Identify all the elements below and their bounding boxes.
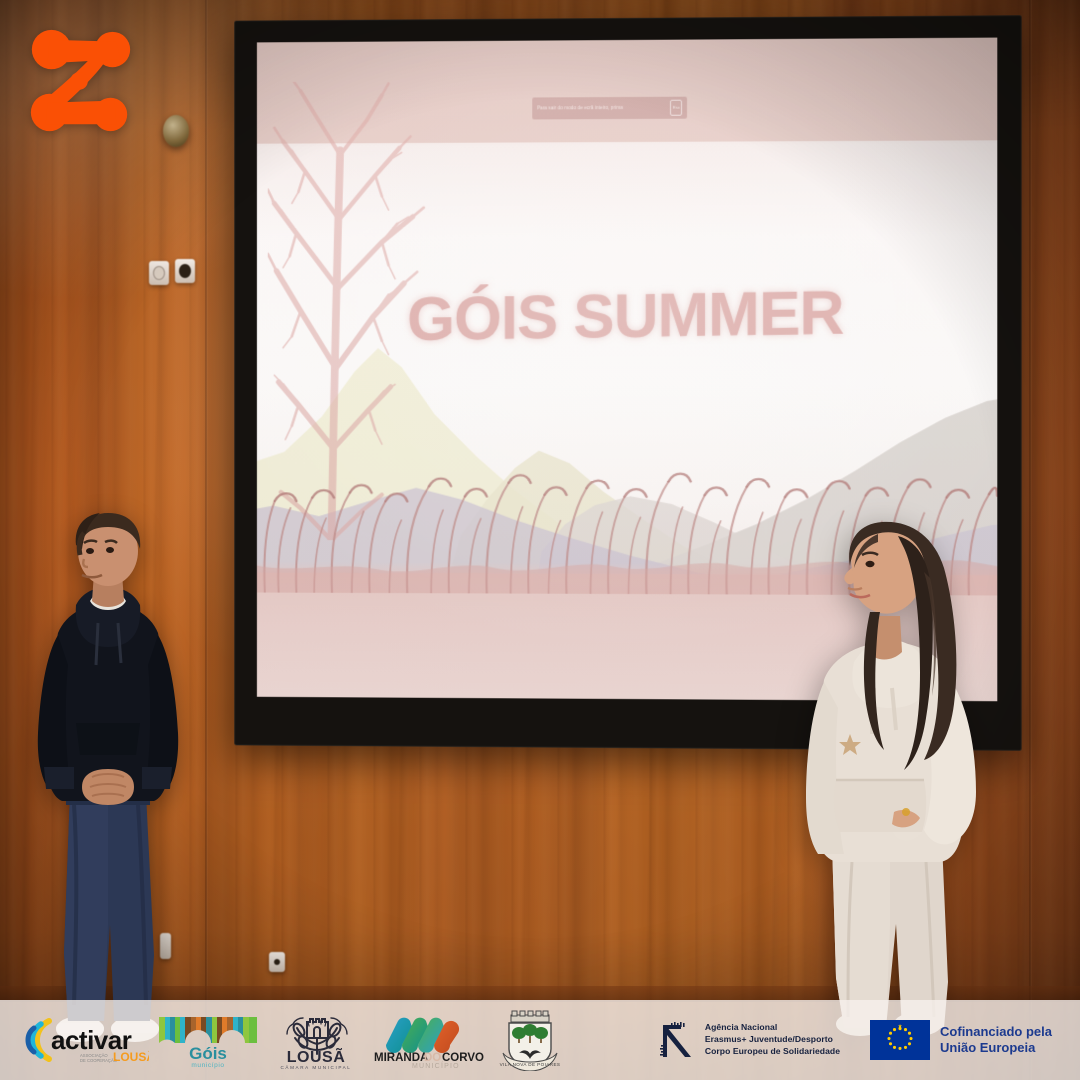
hill-lavender-left (257, 461, 803, 594)
erasmus-arrow-icon (655, 1019, 697, 1061)
hill-cream-front (447, 422, 787, 581)
svg-text:município: município (191, 1062, 224, 1069)
presenter-right (778, 512, 1003, 1037)
erasmus-line-3: Corpo Europeu de Solidariedade (705, 1046, 840, 1058)
z-nodes-logo[interactable] (22, 22, 140, 140)
agencia-nacional-erasmus-logo: Agência Nacional Erasmus+ Juventude/Desp… (655, 1019, 840, 1061)
lousa-camara-municipal-logo: LOUSÃ CÂMARA MUNICIPAL (264, 1010, 368, 1070)
eu-line-1: Cofinanciado pela (940, 1024, 1052, 1040)
bare-tree-silhouette (268, 80, 488, 540)
svg-text:LOUSÃ: LOUSÃ (113, 1049, 149, 1064)
svg-text:Góis: Góis (189, 1044, 227, 1063)
wall-switch-plate (149, 261, 169, 285)
wall-outlet-plate-low (269, 952, 285, 972)
gois-municipio-logo: Góis município (152, 1011, 264, 1069)
miranda-do-corvo-municipio-logo: MIRANDA DO CORVO MUNICÍPIO (368, 1011, 488, 1069)
erasmus-line-1: Agência Nacional (705, 1022, 840, 1034)
presenter-left (18, 505, 198, 1045)
eu-text-block: Cofinanciado pela União Europeia (940, 1024, 1052, 1055)
eu-flag-icon (870, 1020, 930, 1060)
wall-outlet-plate (175, 259, 195, 283)
svg-text:VILA NOVA DE POIARES: VILA NOVA DE POIARES (500, 1062, 561, 1067)
wall-panel-seam (205, 0, 208, 1080)
esc-notice-text: Para sair do modo de ecrã inteiro, prima (537, 105, 666, 111)
svg-text:CÂMARA MUNICIPAL: CÂMARA MUNICIPAL (281, 1064, 352, 1070)
fullscreen-esc-notification: Para sair do modo de ecrã inteiro, prima… (532, 96, 687, 119)
sponsor-footer-bar: activar ASSOCIAÇÃO DE COOPERAÇÃO LOUSÃ (0, 1000, 1080, 1080)
svg-text:LOUSÃ: LOUSÃ (287, 1046, 346, 1066)
vila-nova-de-poiares-coat-of-arms: VILA NOVA DE POIARES (488, 1009, 572, 1071)
slide-top-band (257, 38, 997, 144)
wall-fixture-knob (163, 115, 189, 147)
activar-lousa-logo: activar ASSOCIAÇÃO DE COOPERAÇÃO LOUSÃ (22, 1013, 152, 1067)
hill-cream-back (257, 343, 714, 581)
footer-logos-right: Agência Nacional Erasmus+ Juventude/Desp… (655, 1019, 1080, 1061)
eu-cofinanced-logo: Cofinanciado pela União Europeia (870, 1020, 1052, 1060)
screenshot-stage: Para sair do modo de ecrã inteiro, prima… (0, 0, 1080, 1080)
slide-title: GÓIS SUMMER (257, 275, 997, 357)
eu-line-2: União Europeia (940, 1040, 1052, 1056)
wall-panel-seam (1029, 0, 1032, 1080)
erasmus-text-block: Agência Nacional Erasmus+ Juventude/Desp… (705, 1022, 840, 1058)
erasmus-line-2: Erasmus+ Juventude/Desporto (705, 1034, 840, 1046)
svg-text:MUNICÍPIO: MUNICÍPIO (412, 1061, 460, 1069)
footer-logos-left: activar ASSOCIAÇÃO DE COOPERAÇÃO LOUSÃ (0, 1009, 572, 1071)
esc-key-button[interactable]: Esc (670, 99, 682, 115)
